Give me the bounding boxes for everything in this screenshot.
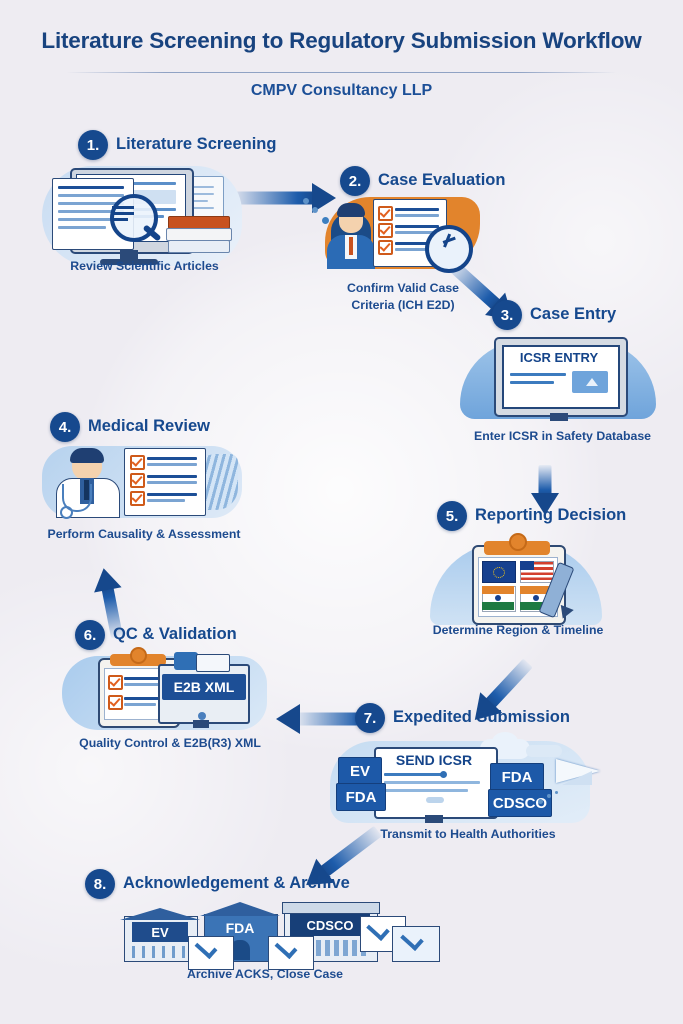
step-6-badge: 6. [75,620,105,650]
step-3-art: ICSR ENTRY [460,333,660,423]
step-4-art [42,444,252,524]
flow-arrow-5-to-7 [450,654,537,745]
authority-tag-fda-left: FDA [336,783,386,811]
step-2-caption-line1: Confirm Valid Case [323,280,483,297]
step-1-title: Literature Screening [116,135,276,154]
building-label-cdsco: CDSCO [290,914,370,936]
step-4-title: Medical Review [88,417,210,436]
step-8-badge: 8. [85,869,115,899]
title-divider [66,72,617,73]
step-5-title: Reporting Decision [475,506,626,525]
building-label-ev: EV [132,922,188,942]
step-2-title: Case Evaluation [378,171,505,190]
step-8-caption: Archive ACKS, Close Case [115,966,415,983]
paper-plane-icon [556,753,612,793]
step-8-title: Acknowledgement & Archive [123,874,350,893]
step-3-title: Case Entry [530,305,616,324]
step-6-title: QC & Validation [113,625,237,644]
step-5-badge: 5. [437,501,467,531]
building-label-fda: FDA [208,918,272,938]
step-7-art: SEND ICSR EV FDA FDA CDSCO [330,735,630,825]
step-4-caption: Perform Causality & Assessment [30,526,258,543]
infographic-canvas: Literature Screening to Regulatory Submi… [0,0,683,1024]
page-title: Literature Screening to Regulatory Submi… [0,28,683,54]
screen-label-icsr-entry: ICSR ENTRY [508,350,610,365]
authority-tag-fda-right: FDA [490,763,544,791]
step-6-art: E2B XML [62,652,277,734]
step-3-badge: 3. [492,300,522,330]
step-3-caption: Enter ICSR in Safety Database [455,428,670,445]
page-subtitle: CMPV Consultancy LLP [0,82,683,100]
step-4-badge: 4. [50,412,80,442]
building-ev: EV [124,908,196,960]
screen-label-send-icsr: SEND ICSR [378,752,490,768]
step-7-title: Expedited Submission [393,708,570,727]
clock-icon [425,225,473,273]
step-2-caption-line2: Criteria (ICH E2D) [323,297,483,314]
step-7-badge: 7. [355,703,385,733]
step-1-badge: 1. [78,130,108,160]
step-5-art [430,533,610,628]
step-6-caption: Quality Control & E2B(R3) XML [60,735,280,752]
step-1-art [42,160,252,270]
plane-trail-dots-icon [538,791,568,807]
step-2-art [325,197,485,277]
step-7-caption: Transmit to Health Authorities [338,826,598,843]
screen-label-e2b-xml: E2B XML [162,674,246,700]
step-1-caption: Review Scientific Articles [42,258,247,275]
step-5-caption: Determine Region & Timeline [418,622,618,639]
step-2-caption: Confirm Valid Case Criteria (ICH E2D) [323,280,483,313]
authority-tag-ev: EV [338,757,382,785]
step-2-badge: 2. [340,166,370,196]
step-8-art: EV FDA CDSCO [110,898,420,966]
